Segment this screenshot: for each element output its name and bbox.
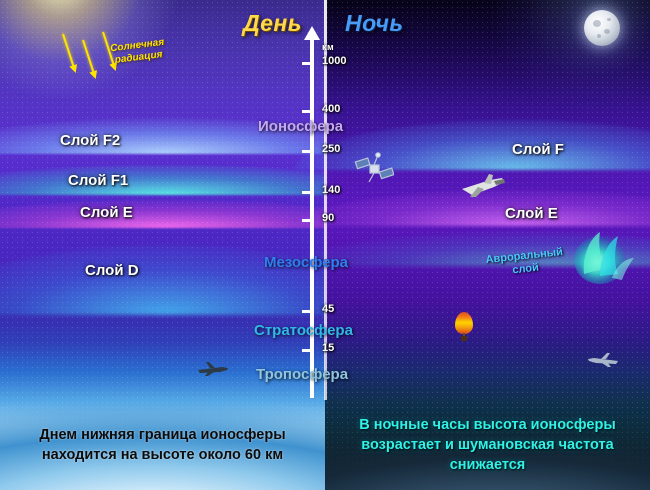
axis-tick-label-45: 45 bbox=[322, 303, 334, 315]
axis-unit-label: км bbox=[322, 42, 334, 52]
ionosphere-diagram: Солнечнаярадиация bbox=[0, 0, 650, 490]
axis-tick-label-140: 140 bbox=[322, 184, 340, 196]
axis-tick-45 bbox=[302, 310, 314, 313]
airplane-day-icon bbox=[196, 360, 230, 378]
layer-d-label: Слой D bbox=[85, 262, 139, 279]
label-ionosphere: Ионосфера bbox=[258, 118, 343, 135]
label-troposphere: Тропосфера bbox=[256, 366, 348, 383]
day-caption: Днем нижняя граница ионосферы находится … bbox=[0, 400, 325, 490]
layer-e-label: Слой E bbox=[80, 204, 133, 221]
axis-tick-1000 bbox=[302, 62, 314, 65]
label-mesosphere: Мезосфера bbox=[264, 254, 348, 271]
night-title: Ночь bbox=[345, 10, 404, 37]
axis-tick-label-90: 90 bbox=[322, 212, 334, 224]
axis-tick-label-400: 400 bbox=[322, 103, 340, 115]
label-stratosphere: Стратосфера bbox=[254, 322, 353, 339]
airplane-night-icon bbox=[586, 352, 620, 370]
axis-tick-label-1000: 1000 bbox=[322, 55, 346, 67]
moon-icon bbox=[584, 10, 620, 46]
day-title: День bbox=[243, 10, 302, 37]
space-shuttle-icon bbox=[460, 172, 506, 200]
altitude-axis-line bbox=[310, 38, 314, 398]
axis-tick-label-250: 250 bbox=[322, 143, 340, 155]
night-caption: В ночные часы высота ионосферы возрастае… bbox=[325, 400, 650, 490]
layer-f2-label: Слой F2 bbox=[60, 132, 120, 149]
hot-air-balloon-icon bbox=[455, 312, 473, 342]
axis-tick-15 bbox=[302, 349, 314, 352]
night-layer-f-band bbox=[295, 120, 650, 170]
layer-f-label: Слой F bbox=[512, 141, 564, 158]
axis-tick-label-15: 15 bbox=[322, 342, 334, 354]
aurora-glow-icon bbox=[570, 228, 640, 290]
altitude-axis-arrowhead bbox=[304, 26, 320, 40]
axis-tick-400 bbox=[302, 110, 314, 113]
layer-f1-label: Слой F1 bbox=[68, 172, 128, 189]
axis-tick-250 bbox=[302, 150, 314, 153]
axis-tick-140 bbox=[302, 191, 314, 194]
axis-tick-90 bbox=[302, 219, 314, 222]
satellite-icon bbox=[354, 152, 394, 186]
layer-e-label: Слой E bbox=[505, 205, 558, 222]
